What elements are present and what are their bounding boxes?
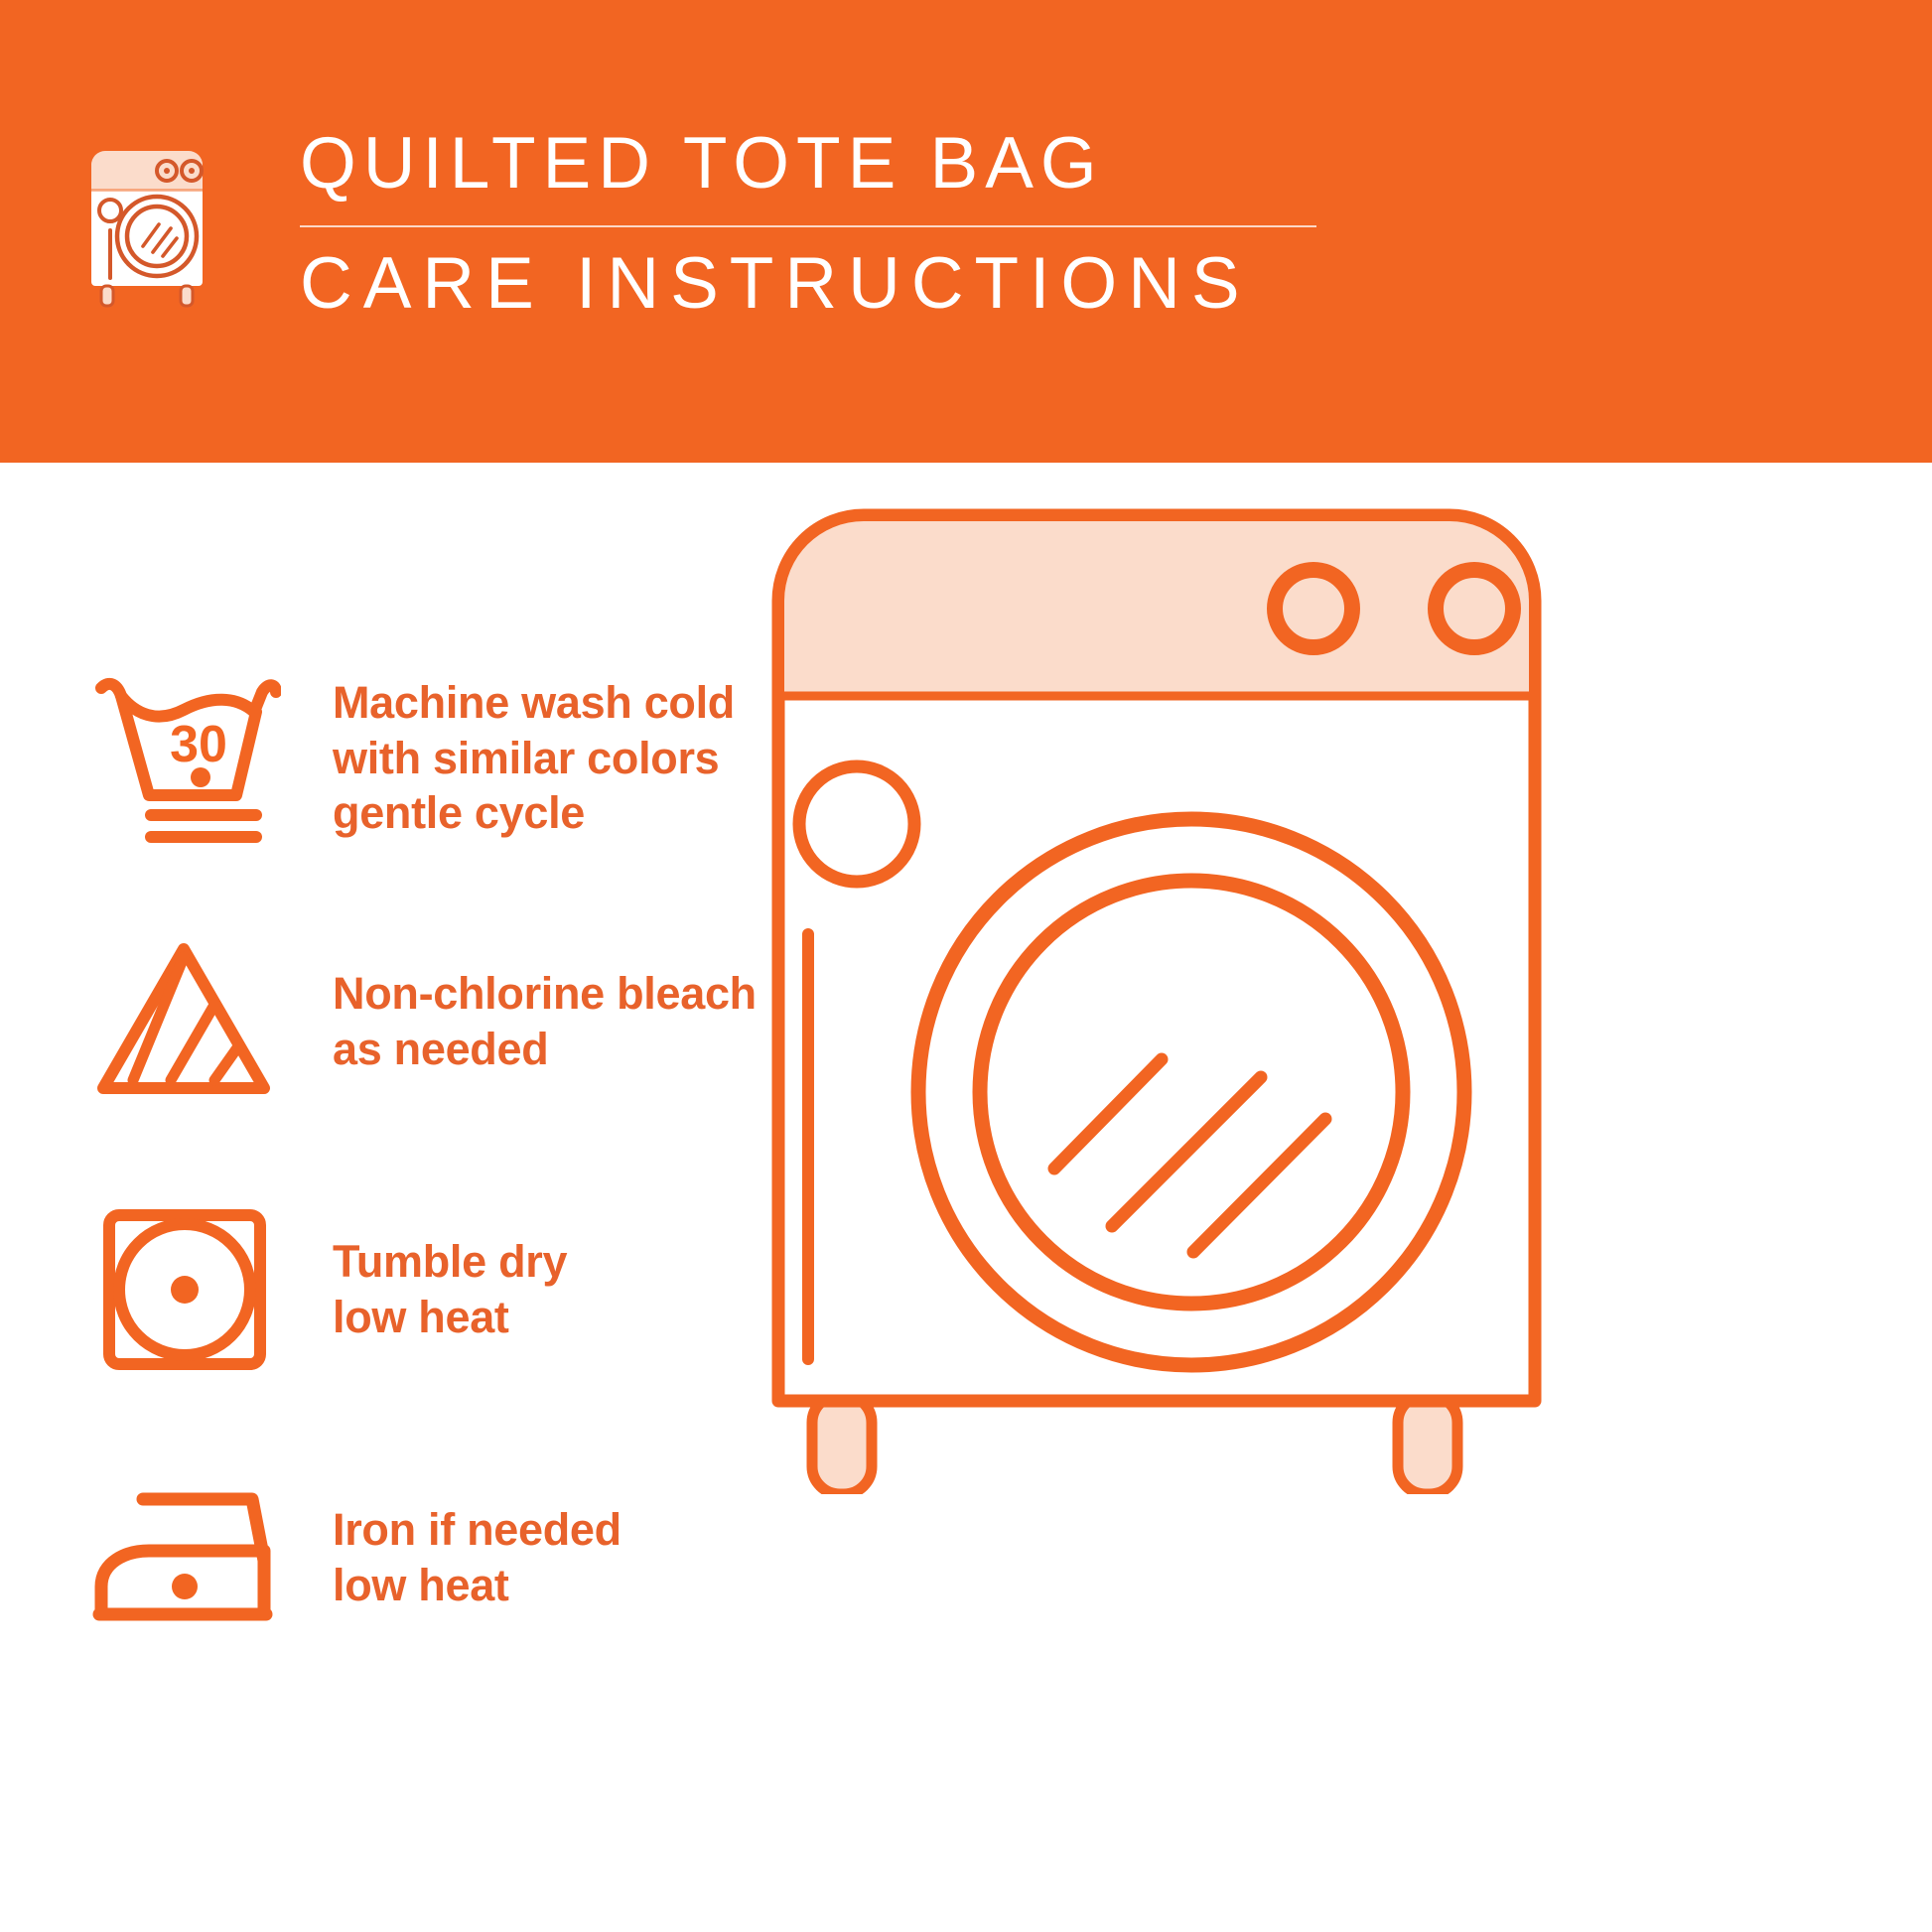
header-title-block: QUILTED TOTE BAG CARE INSTRUCTIONS	[300, 127, 1316, 320]
washing-machine-icon	[77, 135, 226, 314]
machine-legs	[812, 1395, 1457, 1494]
care-instructions-page: QUILTED TOTE BAG CARE INSTRUCTIONS 30	[0, 0, 1932, 1932]
front-load-washing-machine-illustration	[764, 501, 1549, 1494]
care-item-label: Machine wash cold with similar colors ge…	[333, 675, 735, 840]
title-divider	[300, 225, 1316, 227]
page-subtitle: CARE INSTRUCTIONS	[300, 247, 1251, 320]
header-content: QUILTED TOTE BAG CARE INSTRUCTIONS	[77, 127, 1316, 320]
machine-handle	[802, 928, 814, 1365]
wash-temperature-label: 30	[170, 716, 227, 773]
non-chlorine-bleach-triangle-icon	[87, 929, 281, 1113]
care-item-bleach: Non-chlorine bleach as needed	[87, 929, 757, 1113]
header-banner: QUILTED TOTE BAG CARE INSTRUCTIONS	[0, 0, 1932, 463]
care-item-label: Iron if needed low heat	[333, 1502, 621, 1612]
wash-basin-30-gentle-icon: 30	[87, 666, 281, 850]
care-item-label: Non-chlorine bleach as needed	[333, 966, 757, 1076]
machine-control-panel	[784, 521, 1529, 696]
iron-low-heat-icon	[87, 1465, 281, 1649]
tumble-dry-low-heat-icon	[87, 1197, 281, 1381]
care-item-machine-wash: 30 Machine wash cold with similar colors…	[87, 666, 735, 850]
care-item-iron: Iron if needed low heat	[87, 1465, 621, 1649]
care-item-label: Tumble dry low heat	[333, 1234, 567, 1344]
page-title: QUILTED TOTE BAG	[300, 127, 1104, 204]
care-item-tumble-dry: Tumble dry low heat	[87, 1197, 567, 1381]
